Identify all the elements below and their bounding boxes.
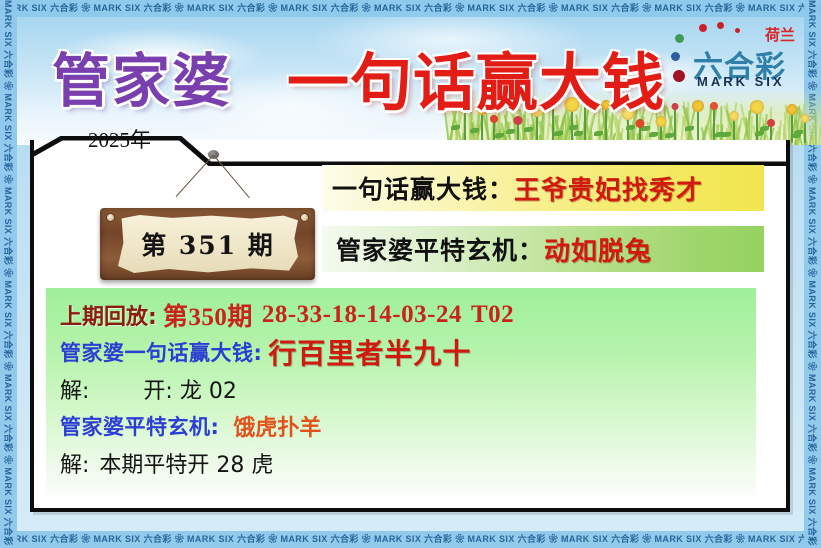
banner-yellow-value: 王爷贵妃找秀才: [514, 170, 703, 207]
sign-paper: 第 351 期: [118, 215, 298, 273]
flower-decoration: [750, 100, 764, 143]
flower-bloom: [750, 100, 764, 114]
flower-leaf: [722, 132, 731, 137]
phrase-answer-label: 解:: [60, 373, 89, 405]
mark-six-logo: 荷兰 六合彩 MARK SIX: [669, 22, 797, 100]
logo-dot-small: [735, 28, 740, 33]
flower-bloom: [801, 114, 810, 123]
flower-decoration: [672, 103, 679, 143]
flower-leaf: [569, 125, 578, 130]
border-top-text: MARK SIX 六合彩 ❀ MARK SIX 六合彩 ❀ MARK SIX 六…: [0, 0, 821, 16]
flower-leaf: [594, 131, 603, 136]
logo-english-label: MARK SIX: [697, 74, 785, 89]
phrase-value: 行百里者半九十: [268, 332, 471, 372]
flower-leaf: [685, 126, 694, 131]
info-row-special-formula: 管家婆平特玄机: 饿虎扑羊: [60, 407, 756, 444]
logo-dot-maroon: [673, 70, 685, 82]
flower-bloom: [672, 103, 679, 110]
hanging-sign: 第 351 期: [100, 150, 320, 280]
year-label: 2025年: [88, 124, 151, 154]
border-top: MARK SIX 六合彩 ❀ MARK SIX 六合彩 ❀ MARK SIX 六…: [0, 0, 821, 17]
sign-screw-left: [106, 213, 115, 222]
banner-yellow-label: 一句话赢大钱：: [332, 170, 514, 206]
sign-rope-right: [213, 155, 250, 199]
flower-leaf: [649, 132, 658, 137]
sign-screw-right: [300, 213, 309, 222]
previous-draw-numbers: 28-33-18-14-03-24: [262, 301, 462, 329]
flower-leaf: [524, 127, 533, 132]
info-row-phrase: 管家婆一句话赢大钱: 行百里者半九十: [60, 333, 756, 370]
flower-decoration: [710, 102, 718, 143]
issue-number-label: 第 351 期: [141, 226, 275, 262]
logo-dot-red-2: [717, 22, 724, 29]
flower-decoration: [801, 114, 810, 143]
special-answer-label: 解:: [60, 447, 89, 479]
flower-leaf: [451, 125, 460, 130]
border-bottom: MARK SIX 六合彩 ❀ MARK SIX 六合彩 ❀ MARK SIX 六…: [0, 531, 821, 548]
flower-leaf: [665, 133, 674, 138]
page-title-secondary: 一句话赢大钱: [287, 32, 665, 122]
previous-draw-issue: 第350期: [163, 297, 253, 333]
previous-draw-label: 上期回放:: [60, 299, 157, 331]
border-left: MARK SIX 六合彩 ❀ MARK SIX 六合彩 ❀ MARK SIX 六…: [0, 0, 17, 548]
banner-green-value: 动如脱兔: [544, 231, 652, 268]
flower-decoration: [787, 104, 798, 143]
flower-decoration: [729, 111, 739, 143]
banner-green: 管家婆平特玄机： 动如脱兔: [322, 226, 764, 272]
banner-green-label: 管家婆平特玄机：: [336, 231, 544, 267]
flower-leaf: [626, 125, 635, 130]
phrase-answer-value: 开: 龙 02: [143, 373, 236, 405]
flower-leaf: [760, 126, 769, 131]
flower-leaf: [574, 131, 583, 136]
logo-dot-blue: [671, 52, 680, 61]
special-answer-value: 本期平特开 28 虎: [99, 447, 273, 479]
border-right-text: MARK SIX 六合彩 ❀ MARK SIX 六合彩 ❀ MARK SIX 六…: [804, 0, 820, 548]
flower-bloom: [787, 104, 798, 115]
special-formula-label: 管家婆平特玄机:: [60, 411, 219, 441]
flower-bloom: [767, 119, 775, 127]
sign-rope-left: [176, 155, 214, 197]
flower-decoration: [692, 100, 704, 143]
flower-leaf: [470, 128, 479, 133]
flower-bloom: [710, 102, 718, 110]
info-panel: 上期回放: 第350期 28-33-18-14-03-24 T02 管家婆一句话…: [46, 288, 756, 496]
previous-draw-special: T02: [471, 301, 514, 329]
info-row-previous-draw: 上期回放: 第350期 28-33-18-14-03-24 T02: [60, 296, 756, 333]
flower-leaf: [506, 129, 515, 134]
info-row-special-answer: 解: 本期平特开 28 虎: [60, 444, 756, 481]
flower-bloom: [729, 111, 739, 121]
flower-leaf: [755, 131, 764, 136]
flower-leaf: [794, 130, 803, 135]
poster-root: MARK SIX 六合彩 ❀ MARK SIX 六合彩 ❀ MARK SIX 六…: [0, 0, 821, 548]
banner-yellow: 一句话赢大钱： 王爷贵妃找秀才: [322, 165, 764, 211]
border-right: MARK SIX 六合彩 ❀ MARK SIX 六合彩 ❀ MARK SIX 六…: [804, 0, 821, 548]
phrase-label: 管家婆一句话赢大钱:: [60, 337, 262, 367]
special-formula-value: 饿虎扑羊: [233, 410, 321, 442]
flower-bloom: [692, 100, 704, 112]
border-left-text: MARK SIX 六合彩 ❀ MARK SIX 六合彩 ❀ MARK SIX 六…: [0, 0, 16, 548]
sign-board: 第 351 期: [100, 208, 315, 280]
page-title-primary: 管家婆: [52, 34, 232, 118]
info-row-phrase-answer: 解: 开: 龙 02: [60, 370, 756, 407]
flower-leaf: [495, 133, 504, 138]
logo-dot-green: [675, 34, 684, 43]
logo-dot-red-1: [699, 24, 707, 32]
border-bottom-text: MARK SIX 六合彩 ❀ MARK SIX 六合彩 ❀ MARK SIX 六…: [0, 531, 821, 547]
